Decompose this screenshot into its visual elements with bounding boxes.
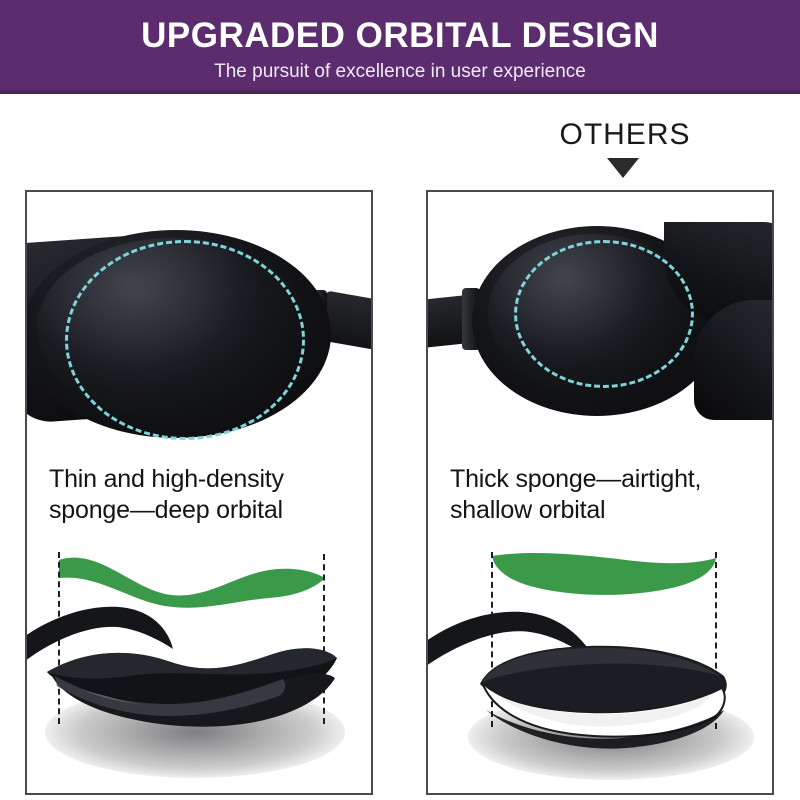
comparison-panel-others: Thick sponge—airtight, shallow orbital xyxy=(426,190,774,795)
contour-shape-crescent xyxy=(490,552,720,600)
dashed-ellipse-icon xyxy=(65,240,305,440)
others-label: OTHERS xyxy=(540,118,710,152)
profile-sponge-ours xyxy=(47,666,337,736)
panel-caption-others: Thick sponge—airtight, shallow orbital xyxy=(450,464,760,526)
header-banner: UPGRADED ORBITAL DESIGN The pursuit of e… xyxy=(0,0,800,94)
profile-diagram-ours xyxy=(27,544,371,795)
product-photo-ours xyxy=(27,192,371,454)
infographic-page: UPGRADED ORBITAL DESIGN The pursuit of e… xyxy=(0,0,800,800)
page-subtitle: The pursuit of excellence in user experi… xyxy=(0,60,800,84)
dashed-ellipse-icon xyxy=(514,240,694,388)
page-title: UPGRADED ORBITAL DESIGN xyxy=(0,16,800,56)
triangle-down-icon xyxy=(607,158,639,178)
product-photo-others xyxy=(428,192,772,454)
comparison-panel-ours: Thin and high-density sponge—deep orbita… xyxy=(25,190,373,795)
profile-diagram-others xyxy=(428,544,772,795)
panel-caption-ours: Thin and high-density sponge—deep orbita… xyxy=(49,464,359,526)
header-divider xyxy=(0,90,800,94)
profile-rim-others xyxy=(480,706,730,754)
